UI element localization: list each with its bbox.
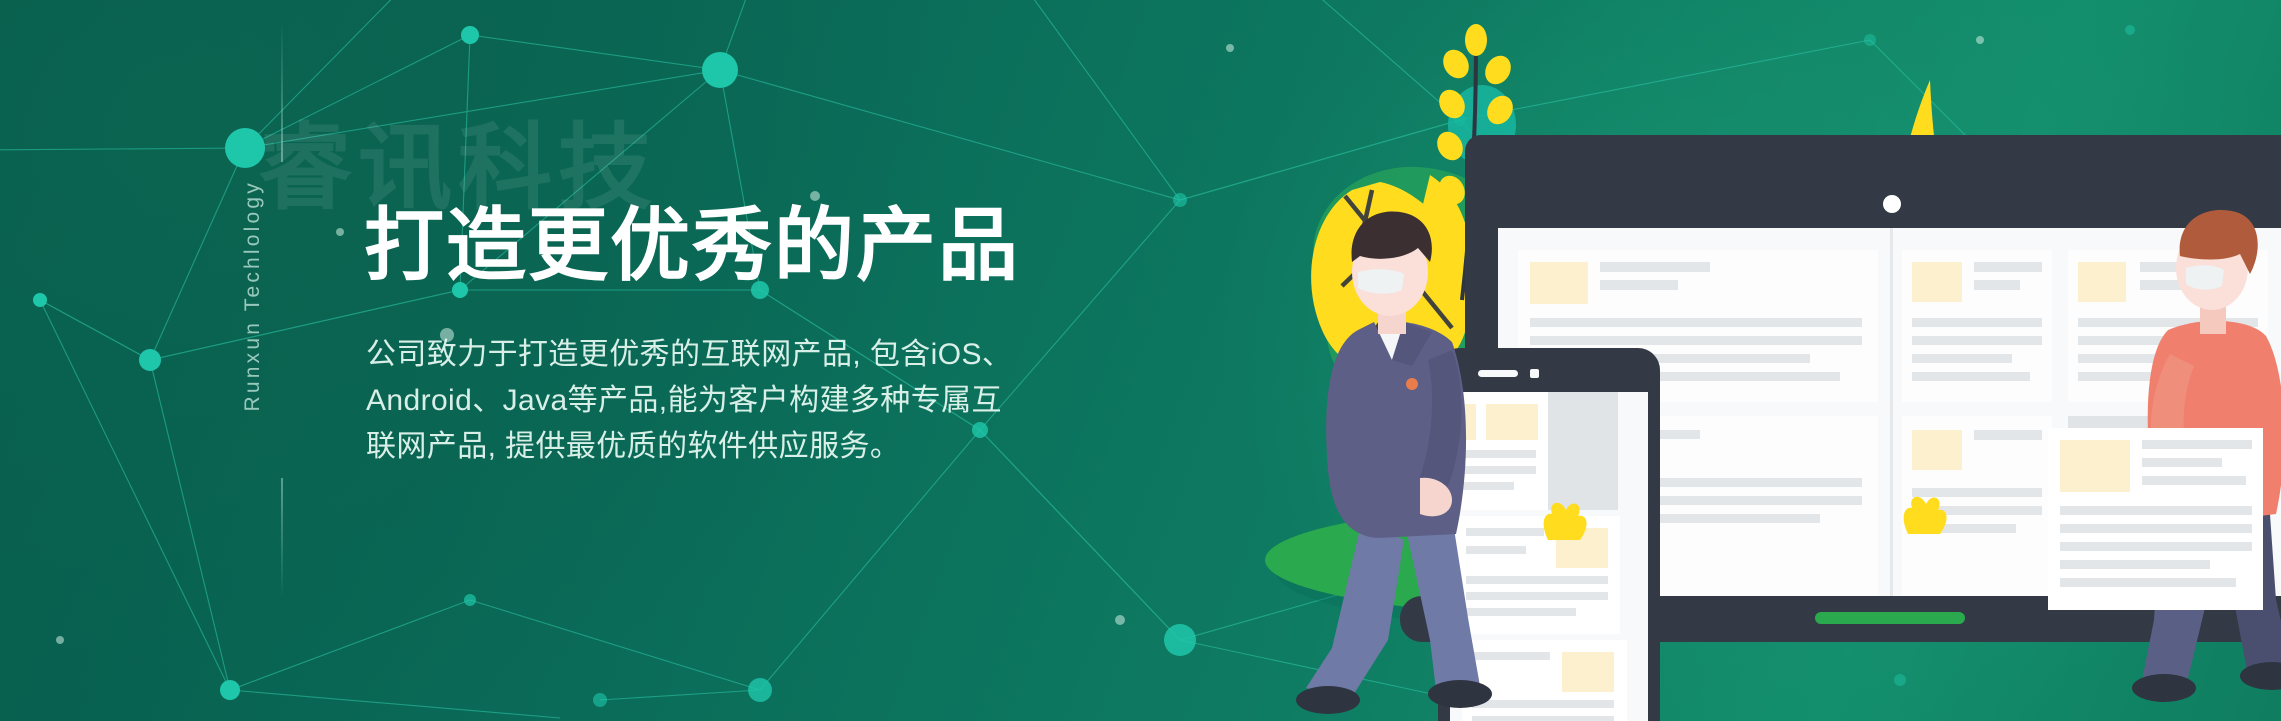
vertical-rule-bottom [281, 478, 283, 598]
vertical-brand-text: Runxun Techlology [241, 180, 265, 411]
paragraph-line-3: 联网产品, 提供最优质的软件供应服务。 [366, 424, 1186, 470]
document-right [2048, 428, 2263, 610]
paragraph-line-2: Android、Java等产品,能为客户构建多种专属互 [366, 378, 1186, 424]
paragraph-line-1: 公司致力于打造更优秀的互联网产品, 包含iOS、 [366, 332, 1186, 378]
page-title: 打造更优秀的产品 [364, 206, 1020, 286]
description-paragraph: 公司致力于打造更优秀的互联网产品, 包含iOS、 Android、Java等产品… [366, 332, 1186, 470]
hero-banner: Runxun Techlology [0, 0, 2281, 721]
